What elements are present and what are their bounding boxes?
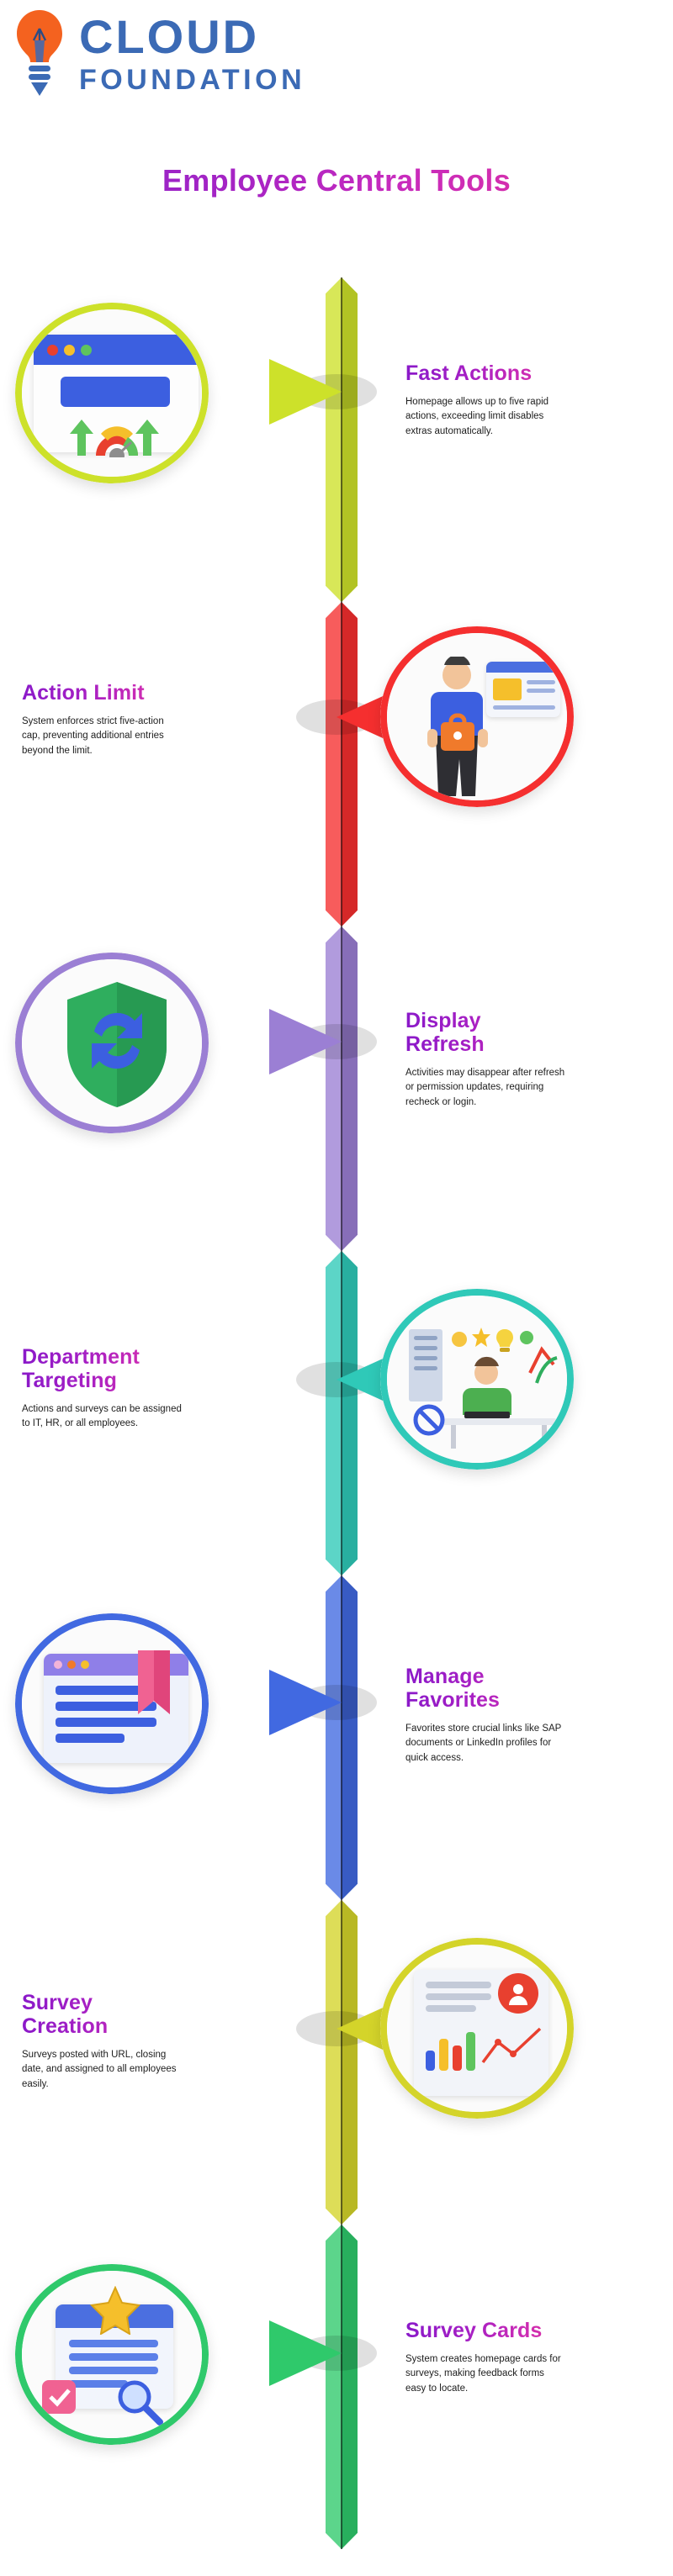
illustration-bubble-3 (15, 953, 209, 1133)
section-heading-7: Survey Cards (405, 2319, 565, 2342)
logo-foundation-text: FOUNDATION (79, 66, 305, 94)
spine-segment-6 (326, 1900, 358, 2225)
illustration-bubble-6 (380, 1938, 574, 2119)
section-body-4: Actions and surveys can be assigned to I… (22, 1402, 182, 1432)
section-text-6: Survey Creation Surveys posted with URL,… (22, 1991, 182, 2092)
section-heading-5: Manage Favorites (405, 1665, 565, 1712)
logo-cloud-text: CLOUD (79, 13, 305, 61)
section-text-4: Department Targeting Actions and surveys… (22, 1345, 182, 1432)
shield-refresh-icon (22, 959, 202, 1127)
section-text-7: Survey Cards System creates homepage car… (405, 2319, 565, 2396)
star-card-search-icon (22, 2271, 202, 2438)
section-body-5: Favorites store crucial links like SAP d… (405, 1722, 565, 1766)
illustration-bubble-2 (380, 626, 574, 807)
browser-speedometer-icon (22, 309, 202, 477)
section-heading-6: Survey Creation (22, 1991, 182, 2038)
illustration-bubble-7 (15, 2264, 209, 2445)
infographic-page: CLOUD FOUNDATION Employee Central Tools (0, 0, 673, 2576)
section-heading-1: Fast Actions (405, 362, 565, 385)
spine-segment-4 (326, 1251, 358, 1576)
section-body-6: Surveys posted with URL, closing date, a… (22, 2048, 182, 2092)
timeline-spine (326, 277, 358, 2547)
section-body-2: System enforces strict five-action cap, … (22, 715, 182, 758)
spine-segment-7 (326, 2225, 358, 2549)
survey-report-chart-icon (387, 1945, 567, 2112)
person-security-lock-icon (387, 633, 567, 800)
section-heading-4: Department Targeting (22, 1345, 182, 1392)
section-text-1: Fast Actions Homepage allows up to five … (405, 362, 565, 439)
brand-logo: CLOUD FOUNDATION (8, 7, 305, 101)
bookmark-document-icon (22, 1620, 202, 1787)
section-heading-2: Action Limit (22, 681, 182, 705)
employee-desk-workspace-icon (387, 1296, 567, 1463)
section-text-2: Action Limit System enforces strict five… (22, 681, 182, 758)
section-body-7: System creates homepage cards for survey… (405, 2352, 565, 2396)
illustration-bubble-5 (15, 1613, 209, 1794)
section-body-3: Activities may disappear after refresh o… (405, 1066, 565, 1110)
spine-segment-2 (326, 602, 358, 926)
spine-segment-3 (326, 926, 358, 1251)
illustration-bubble-4 (380, 1289, 574, 1470)
section-text-3: Display Refresh Activities may disappear… (405, 1009, 565, 1110)
spine-segment-5 (326, 1576, 358, 1900)
spine-segment-1 (326, 277, 358, 602)
illustration-bubble-1 (15, 303, 209, 483)
section-text-5: Manage Favorites Favorites store crucial… (405, 1665, 565, 1766)
section-body-1: Homepage allows up to five rapid actions… (405, 395, 565, 439)
page-title: Employee Central Tools (50, 163, 623, 198)
lightbulb-icon (8, 7, 71, 101)
section-heading-3: Display Refresh (405, 1009, 565, 1056)
